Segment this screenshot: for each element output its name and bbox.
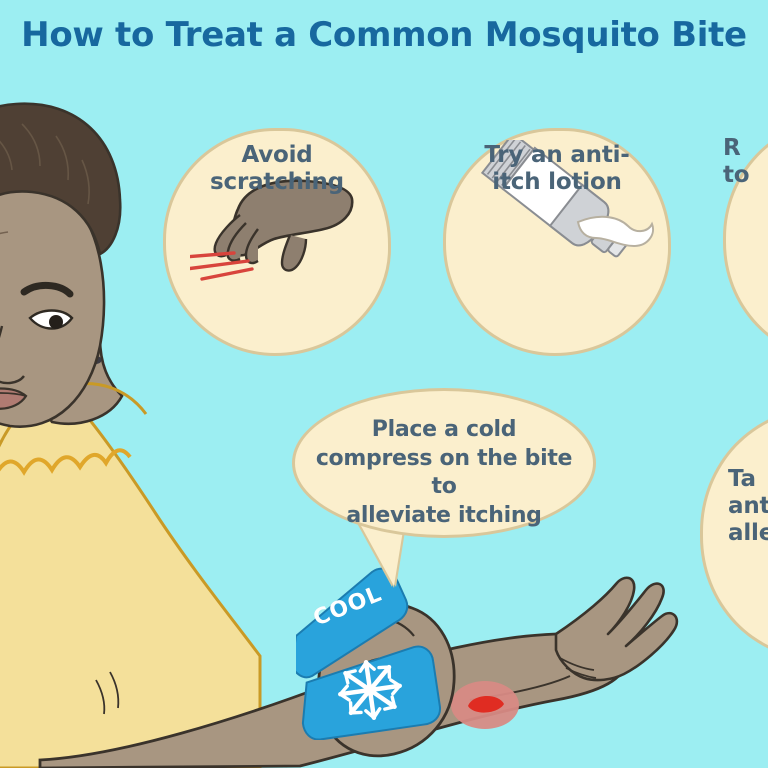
tip-label-right-top-clipped: Rto [723,135,768,189]
page-title: How to Treat a Common Mosquito Bite [0,18,768,52]
tip-label-anti-itch-lotion: Try an anti-itch lotion [443,142,671,196]
infographic-canvas: How to Treat a Common Mosquito Bite [0,0,768,768]
tip-label-right-bottom-clipped: Taantialle [728,466,768,547]
cold-pack [296,560,496,740]
speech-bubble-text: Place a coldcompress on the bite toallev… [300,416,588,530]
tip-label-avoid-scratching: Avoidscratching [163,142,391,196]
